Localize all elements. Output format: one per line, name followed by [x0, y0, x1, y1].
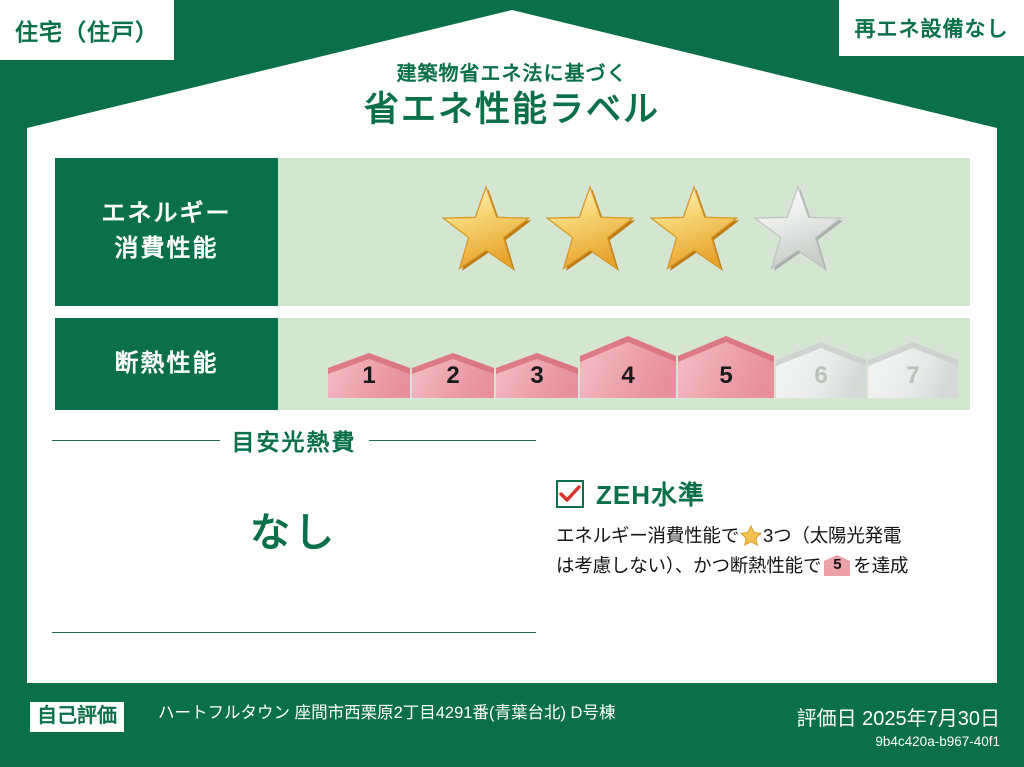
heading-rule-left: [52, 440, 220, 441]
insulation-level-number: 7: [906, 362, 919, 398]
insulation-level-number: 4: [621, 362, 634, 398]
zeh-desc-star-count: 3つ（太陽光発電: [763, 525, 901, 546]
insulation-level-badge-value: 5: [824, 555, 850, 576]
zeh-title-row: ZEH水準: [556, 475, 968, 512]
zeh-desc-part3: を達成: [853, 555, 908, 576]
insulation-level-3: 3: [496, 353, 578, 398]
zeh-desc-part1: エネルギー消費性能で: [556, 525, 739, 546]
energy-performance-label-line2: 消費性能: [115, 232, 219, 267]
insulation-level-number: 6: [814, 362, 827, 398]
star-icon-filled: [541, 185, 639, 280]
title-main: 省エネ性能ラベル: [0, 88, 1024, 132]
energy-performance-label-line1: エネルギー: [102, 197, 232, 232]
utility-cost-value: なし: [52, 500, 536, 558]
energy-performance-body: [278, 158, 970, 306]
evaluation-info: 評価日 2025年7月30日 9b4c420a-b967-40f1: [797, 702, 1000, 749]
insulation-level-number: 3: [530, 362, 543, 398]
insulation-level-number: 5: [719, 362, 732, 398]
insulation-level-4: 4: [580, 336, 676, 398]
insulation-level-number: 1: [362, 362, 375, 398]
footer: 自己評価 ハートフルタウン 座間市西栗原2丁目4291番(青葉台北) D号棟 評…: [0, 690, 1024, 767]
insulation-level-number: 2: [446, 362, 459, 398]
insulation-performance-row: 断熱性能 1234567: [55, 318, 970, 410]
insulation-level-5: 5: [678, 336, 774, 398]
check-icon: [559, 485, 581, 503]
star-icon-empty: [749, 185, 847, 280]
star-rating: [278, 158, 970, 306]
renewable-energy-tag: 再エネ設備なし: [839, 0, 1024, 56]
zeh-description: エネルギー消費性能で 3つ（太陽光発電 は考慮しない）、かつ断熱性能で 5 を達…: [556, 521, 968, 581]
self-evaluation-tag: 自己評価: [30, 702, 124, 732]
zeh-title: ZEH水準: [596, 475, 705, 512]
insulation-level-1: 1: [328, 353, 410, 398]
star-icon-filled: [437, 185, 535, 280]
renewable-energy-tag-label: 再エネ設備なし: [855, 13, 1009, 43]
insulation-performance-body: 1234567: [278, 318, 970, 410]
insulation-level-scale: 1234567: [278, 318, 970, 410]
utility-cost-bottom-rule: [52, 632, 536, 633]
insulation-performance-label-text: 断熱性能: [115, 347, 219, 382]
star-icon: [740, 525, 762, 546]
page-title: 建築物省エネ法に基づく 省エネ性能ラベル: [0, 60, 1024, 132]
insulation-level-7: 7: [868, 342, 958, 398]
building-type-tag: 住宅（住戸）: [0, 0, 174, 60]
utility-cost-heading: 目安光熱費: [52, 423, 536, 457]
insulation-level-2: 2: [412, 353, 494, 398]
evaluation-id: 9b4c420a-b967-40f1: [797, 734, 1000, 749]
star-icon-filled: [645, 185, 743, 280]
zeh-desc-part2: は考慮しない）、かつ断熱性能で: [556, 555, 821, 576]
insulation-level-6: 6: [776, 342, 866, 398]
energy-performance-label: 住宅（住戸） 再エネ設備なし 建築物省エネ法に基づく 省エネ性能ラベル エネルギ…: [0, 0, 1024, 767]
energy-performance-label: エネルギー 消費性能: [55, 158, 278, 306]
insulation-performance-label: 断熱性能: [55, 318, 278, 410]
building-type-tag-label: 住宅（住戸）: [15, 13, 159, 47]
title-subtitle: 建築物省エネ法に基づく: [0, 60, 1024, 88]
zeh-standard-block: ZEH水準 エネルギー消費性能で 3つ（太陽光発電 は考慮しない）、かつ断熱性能…: [556, 475, 968, 581]
energy-performance-row: エネルギー 消費性能: [55, 158, 970, 306]
property-name: ハートフルタウン 座間市西栗原2丁目4291番(青葉台北) D号棟: [158, 702, 618, 725]
heading-rule-right: [369, 440, 537, 441]
zeh-checkbox[interactable]: [556, 480, 584, 508]
insulation-level-badge-icon: 5: [824, 555, 850, 576]
evaluation-date: 評価日 2025年7月30日: [797, 702, 1000, 731]
utility-cost-heading-text: 目安光熱費: [232, 423, 357, 457]
